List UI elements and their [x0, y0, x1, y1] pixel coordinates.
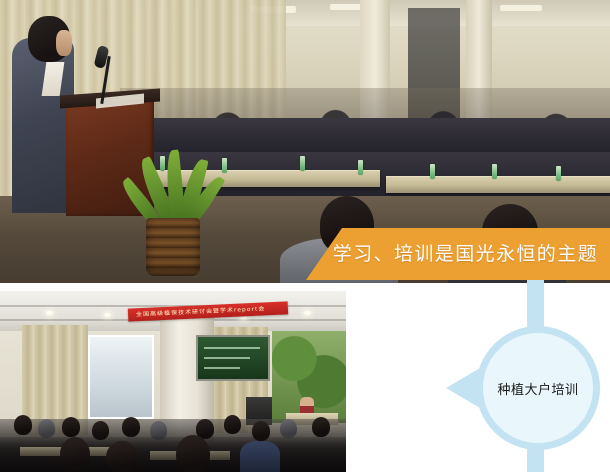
foreground-attendee-head — [60, 437, 90, 471]
seminar-attendee-head — [38, 419, 55, 438]
badge-pointer-arrow — [446, 368, 480, 408]
ceiling-downlight-icon — [104, 313, 111, 317]
seminar-window — [88, 335, 154, 419]
water-bottle-icon — [358, 160, 363, 175]
seminar-attendee-head — [312, 417, 330, 437]
headline-banner: 学习、培训是国光永恒的主题 — [306, 228, 610, 280]
audience-desk — [150, 170, 380, 187]
training-badge-label: 种植大户培训 — [497, 379, 578, 398]
seminar-attendee-head — [122, 417, 140, 437]
ceiling-downlight-icon — [46, 311, 53, 315]
page-root: 学习、培训是国光永恒的主题 种植大户培训 全国高级植保技术研讨会暨学术repor… — [0, 0, 610, 472]
speaker-face — [56, 30, 72, 56]
foreground-attendee-head — [240, 441, 280, 472]
seminar-room-photo: 全国高级植保技术研讨会暨学术report会 — [0, 291, 346, 472]
seminar-attendee-head — [280, 419, 297, 438]
training-badge[interactable]: 种植大户培训 — [476, 326, 600, 450]
screen-text-line — [204, 367, 240, 369]
seminar-foreground — [0, 437, 346, 472]
seminar-attendee-head — [14, 415, 32, 435]
speaker-figure — [12, 38, 74, 213]
ceiling-downlight-icon — [304, 311, 311, 315]
screen-text-line — [204, 357, 250, 359]
foreground-attendee-head — [176, 435, 210, 472]
seminar-attendee-head — [224, 415, 241, 434]
presentation-screen — [196, 335, 270, 381]
water-bottle-icon — [222, 158, 227, 173]
audience-desk — [386, 176, 610, 193]
water-bottle-icon — [160, 156, 165, 171]
seminar-attendee-head — [62, 417, 80, 437]
water-bottle-icon — [492, 164, 497, 179]
foreground-attendee-head — [106, 441, 138, 472]
water-bottle-icon — [300, 156, 305, 171]
water-bottle-icon — [556, 166, 561, 181]
ceiling-lamp-icon — [500, 5, 542, 11]
screen-text-line — [204, 347, 260, 349]
plant-pot — [146, 218, 200, 276]
water-bottle-icon — [430, 164, 435, 179]
headline-banner-text: 学习、培训是国光永恒的主题 — [333, 245, 598, 264]
